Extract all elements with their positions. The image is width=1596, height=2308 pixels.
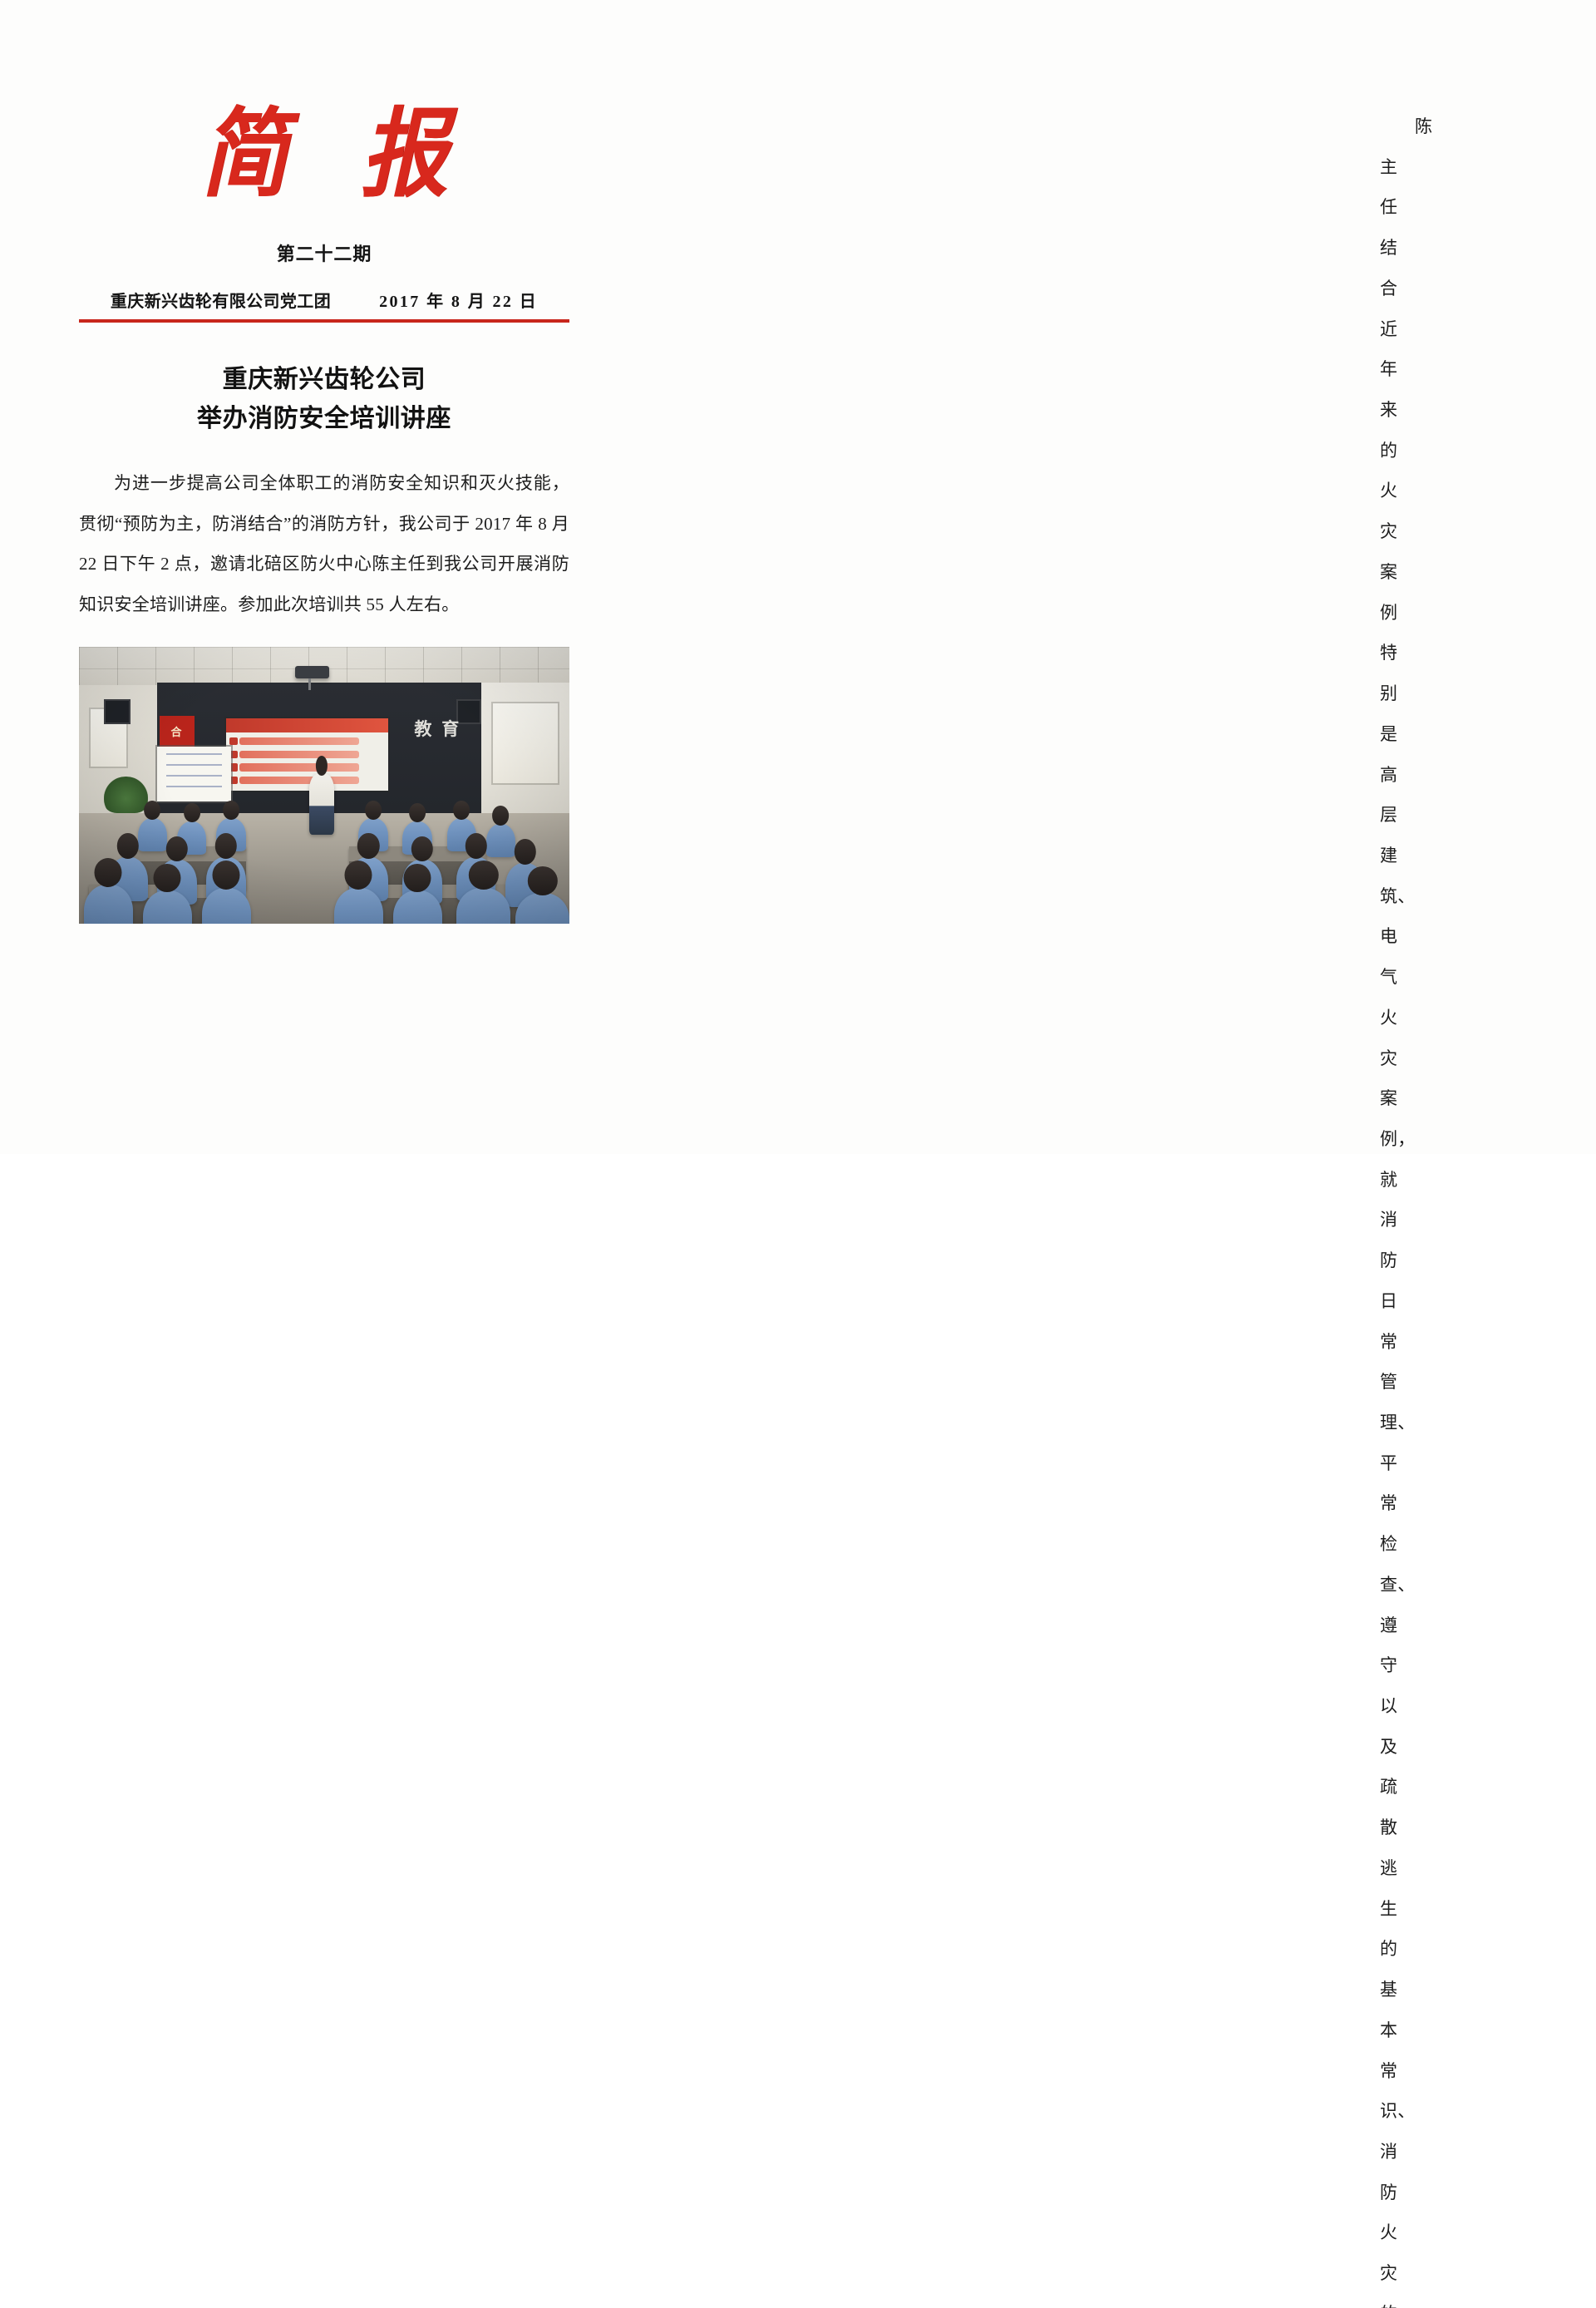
- publication-date: 2017 年 8 月 22 日: [379, 288, 538, 312]
- attendee: [486, 824, 515, 857]
- whiteboard: [157, 747, 231, 802]
- slide-line-1: [239, 737, 359, 746]
- wall-character-right: 教 育: [414, 716, 461, 741]
- right-column: 陈主任结合近年来的火灾案例特别是高层建筑、电气火灾案例，就消防日常管理、平常检查…: [669, 0, 1596, 1154]
- speaker-left: [104, 699, 131, 724]
- projector: [295, 666, 329, 678]
- potted-plant: [104, 777, 148, 812]
- attendee: [138, 818, 167, 851]
- organization-date-line: 重庆新兴齿轮有限公司党工团 2017 年 8 月 22 日: [79, 288, 569, 312]
- slide-bullet-1: [229, 737, 238, 746]
- attendee: [84, 885, 133, 924]
- masthead-title: 简 报: [79, 106, 569, 205]
- organization-name: 重庆新兴齿轮有限公司党工团: [111, 288, 331, 312]
- paragraph-1: 为进一步提高公司全体职工的消防安全知识和灭火技能，贯彻“预防为主，防消结合”的消…: [79, 463, 569, 625]
- slide-line-2: [239, 751, 359, 759]
- masthead: 简 报: [79, 106, 569, 215]
- training-photo-1: 合 教 育: [79, 647, 569, 924]
- article-title: 重庆新兴齿轮公司 举办消防安全培训讲座: [79, 361, 569, 438]
- slide-line-4: [239, 777, 359, 785]
- projection-screen: [226, 718, 388, 791]
- whiteboard-writing: [166, 753, 222, 796]
- article-title-line-1: 重庆新兴齿轮公司: [79, 361, 569, 400]
- slide-line-3: [239, 763, 359, 772]
- masthead-rule: [79, 319, 569, 323]
- presenter: [309, 774, 334, 835]
- article-title-line-2: 举办消防安全培训讲座: [79, 400, 569, 439]
- left-column: 简 报 第二十二期 重庆新兴齿轮有限公司党工团 2017 年 8 月 22 日 …: [0, 0, 669, 1154]
- slide-title-bar: [226, 718, 388, 732]
- issue-number: 第二十二期: [79, 239, 569, 266]
- window-right: [491, 702, 560, 785]
- bulletin-page: 简 报 第二十二期 重庆新兴齿轮有限公司党工团 2017 年 8 月 22 日 …: [0, 0, 1596, 1154]
- wall-banner-left: 合: [160, 716, 194, 747]
- page-columns: 简 报 第二十二期 重庆新兴齿轮有限公司党工团 2017 年 8 月 22 日 …: [0, 0, 1596, 1154]
- article-body-left: 为进一步提高公司全体职工的消防安全知识和灭火技能，贯彻“预防为主，防消结合”的消…: [79, 463, 569, 625]
- photo-1-scene: 合 教 育: [79, 647, 569, 924]
